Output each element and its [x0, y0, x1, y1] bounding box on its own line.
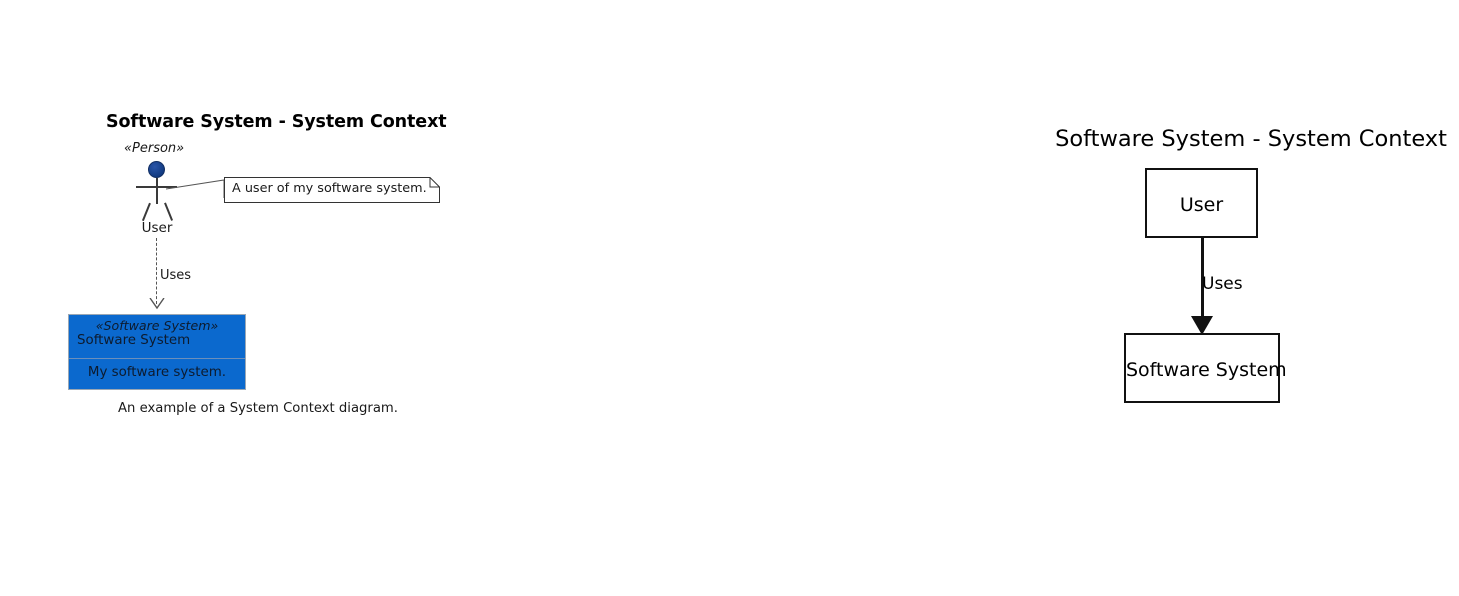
uml-actor-label: User — [120, 220, 194, 236]
uml-note-leader-line — [166, 178, 228, 200]
uml-uses-dashed-line — [156, 238, 157, 304]
uml-software-system-box: «Software System» Software System My sof… — [68, 314, 246, 390]
uml-note-text: A user of my software system. — [232, 181, 427, 196]
uml-system-name: Software System — [69, 333, 245, 348]
panel-plain-diagram: Software System - System Context User Us… — [1005, 0, 1459, 596]
uml-uses-label: Uses — [160, 268, 191, 283]
plain-uses-label: Uses — [1202, 274, 1243, 294]
actor-left-leg-icon — [142, 203, 151, 221]
actor-head-icon — [148, 161, 165, 178]
actor-right-leg-icon — [164, 203, 173, 221]
panel-c4-diagram: User [Person] A user of my software syst… — [508, 0, 1005, 596]
uml-person-stereotype: «Person» — [124, 141, 184, 156]
uml-note: A user of my software system. — [224, 177, 440, 203]
uml-diagram-caption: An example of a System Context diagram. — [118, 401, 398, 416]
plain-user-box: User — [1145, 168, 1258, 238]
uml-system-stereotype: «Software System» — [69, 319, 245, 333]
actor-body-icon — [156, 178, 158, 204]
uml-system-description: My software system. — [69, 359, 245, 380]
plain-diagram-title: Software System - System Context — [1005, 126, 1459, 152]
uml-arrowhead-icon — [149, 298, 165, 310]
plain-software-system-box: Software System — [1124, 333, 1280, 403]
uml-system-name-compartment: «Software System» Software System — [69, 315, 245, 359]
panel-uml-diagram: Software System - System Context «Person… — [0, 0, 508, 596]
uml-diagram-title: Software System - System Context — [106, 112, 447, 132]
diagram-canvas: Software System - System Context «Person… — [0, 0, 1459, 596]
